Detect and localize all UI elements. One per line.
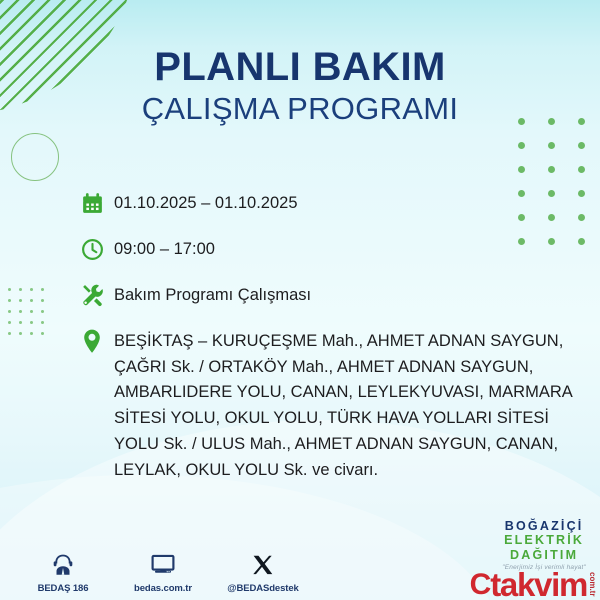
contact-website[interactable]: bedas.com.tr (126, 548, 200, 594)
maintenance-details: 01.10.2025 – 01.10.2025 09:00 – 17:00 (80, 188, 580, 497)
page-subtitle: ÇALIŞMA PROGRAMI (0, 92, 600, 127)
poster-header: PLANLI BAKIM ÇALIŞMA PROGRAMI (0, 46, 600, 127)
location-value: BEŞİKTAŞ – KURUÇEŞME Mah., AHMET ADNAN S… (114, 326, 580, 483)
bedas-logo: BOĞAZİÇİ ELEKTRİK DAĞITIM "Enerjimiz İşi… (502, 519, 586, 572)
contact-social[interactable]: @BEDASdestek (226, 548, 300, 594)
detail-row-date: 01.10.2025 – 01.10.2025 (80, 188, 580, 218)
contact-phone-label: BEDAŞ 186 (26, 583, 100, 594)
monitor-icon (126, 548, 200, 578)
circle-outline-decoration (11, 133, 59, 181)
calendar-icon (80, 188, 114, 218)
date-range-value: 01.10.2025 – 01.10.2025 (114, 188, 580, 216)
contact-social-label: @BEDASdestek (226, 583, 300, 594)
takvim-watermark: C takvim com.tr (470, 571, 596, 598)
contact-channels: BEDAŞ 186 bedas.com.tr (26, 548, 300, 594)
poster-footer: BEDAŞ 186 bedas.com.tr (0, 522, 600, 600)
contact-website-label: bedas.com.tr (126, 583, 200, 594)
call-center-agent-icon (26, 548, 100, 578)
watermark-text: takvim (490, 571, 587, 598)
watermark-mark: C (470, 573, 491, 598)
detail-row-time: 09:00 – 17:00 (80, 234, 580, 264)
time-range-value: 09:00 – 17:00 (114, 234, 580, 262)
planned-maintenance-poster: PLANLI BAKIM ÇALIŞMA PROGRAMI 01 (0, 0, 600, 600)
brand-line-3: DAĞITIM (502, 548, 586, 563)
watermark-tld: com.tr (588, 572, 596, 598)
detail-row-location: BEŞİKTAŞ – KURUÇEŞME Mah., AHMET ADNAN S… (80, 326, 580, 483)
brand-line-2: ELEKTRİK (502, 533, 586, 548)
detail-row-work-type: Bakım Programı Çalışması (80, 280, 580, 310)
x-twitter-icon (226, 548, 300, 578)
clock-icon (80, 234, 114, 264)
brand-line-1: BOĞAZİÇİ (502, 519, 586, 534)
location-pin-icon (80, 326, 114, 356)
contact-phone[interactable]: BEDAŞ 186 (26, 548, 100, 594)
tools-icon (80, 280, 114, 310)
page-title: PLANLI BAKIM (0, 46, 600, 88)
work-type-value: Bakım Programı Çalışması (114, 280, 580, 308)
